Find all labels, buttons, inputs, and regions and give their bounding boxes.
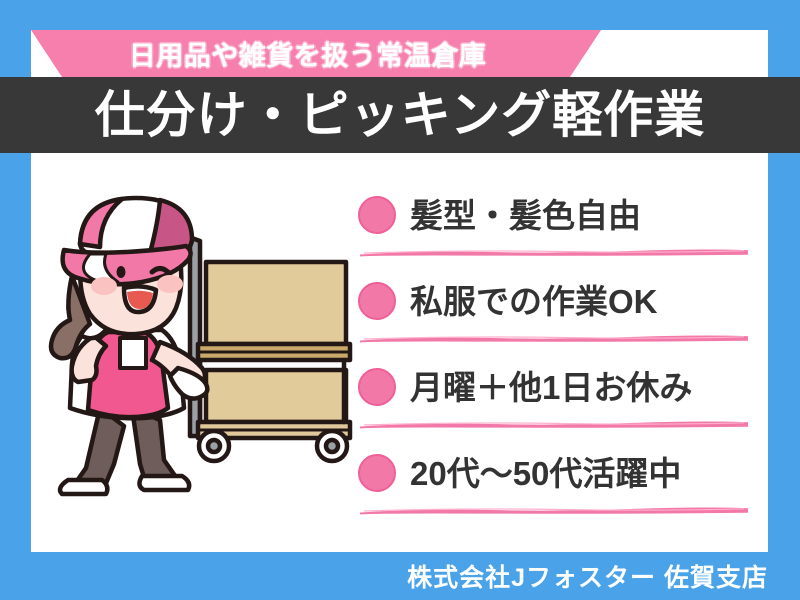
- worker-illustration: [28, 180, 368, 510]
- list-item: 髪型・髪色自由: [358, 186, 758, 272]
- list-item: 月曜＋他1日お休み: [358, 358, 758, 444]
- feature-label: 月曜＋他1日お休み: [410, 371, 692, 404]
- footer-bar: 株式会社Jフォスター 佐賀支店: [0, 552, 800, 600]
- subtitle-ribbon: 日用品や雑貨を扱う常温倉庫: [0, 30, 601, 77]
- feature-label: 髪型・髪色自由: [410, 199, 641, 232]
- feature-label: 私服での作業OK: [410, 285, 658, 318]
- company-name: 株式会社Jフォスター 佐賀支店: [407, 558, 768, 594]
- brush-underline: [360, 248, 748, 257]
- poster-root: 日用品や雑貨を扱う常温倉庫 仕分け・ピッキング軽作業: [0, 0, 800, 600]
- list-item: 私服での作業OK: [358, 272, 758, 358]
- brush-underline: [360, 334, 748, 343]
- brush-underline: [360, 506, 748, 515]
- subtitle-text: 日用品や雑貨を扱う常温倉庫: [0, 30, 601, 77]
- feature-label: 20代〜50代活躍中: [410, 457, 681, 490]
- list-item: 20代〜50代活躍中: [358, 444, 758, 530]
- title-band: 仕分け・ピッキング軽作業: [0, 77, 800, 153]
- bullet-dot-icon: [358, 196, 396, 234]
- brush-underline: [360, 420, 748, 429]
- page-title: 仕分け・ピッキング軽作業: [95, 90, 706, 140]
- bullet-dot-icon: [358, 282, 396, 320]
- bullet-dot-icon: [358, 368, 396, 406]
- feature-list: 髪型・髪色自由 私服での作業OK: [358, 186, 758, 530]
- bullet-dot-icon: [358, 454, 396, 492]
